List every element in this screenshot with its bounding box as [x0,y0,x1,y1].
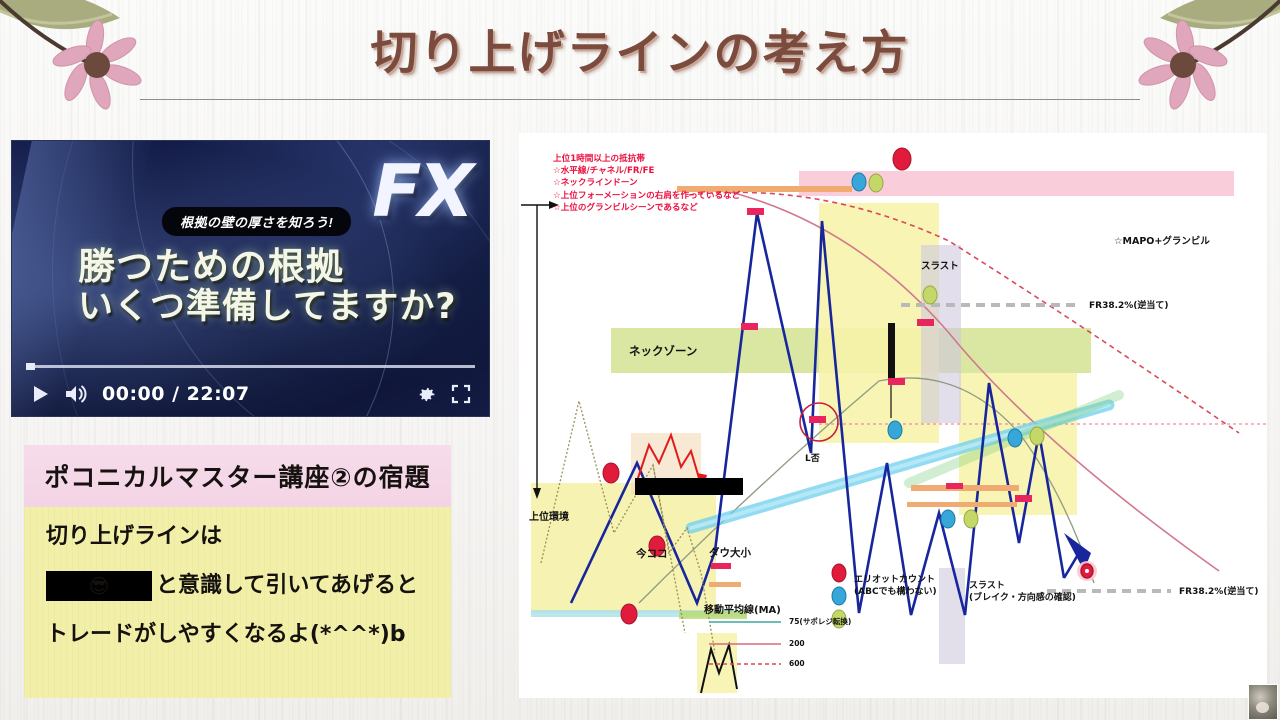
page-title-wrap: 切り上げラインの考え方 [0,14,1280,83]
homework-line-2: 😎 と意識して引いてあげると [46,571,445,601]
play-icon[interactable] [30,384,50,404]
video-headline: 勝つための根拠 いくつ準備してますか? [78,247,479,327]
video-headline-line1: 勝つための根拠 [78,245,344,288]
legend-ma200-label: 200 [789,639,805,648]
video-time: 00:00 / 22:07 [102,383,250,405]
legend-dow-small-swatch [711,563,731,569]
sunglasses-emoji-icon: 😎 [89,576,110,596]
black-candle-body [888,323,895,378]
homework-card: ポコニカルマスター講座②の宿題 切り上げラインは 😎 と意識して引いてあげると … [24,445,451,698]
thrust-label: スラスト [921,258,959,272]
higher-timeframe-label: 上位環境 [529,508,569,523]
legend-elliott-title: エリオットカウント (ABCでも構わない) [854,574,937,598]
fullscreen-icon[interactable] [451,384,471,404]
legend-dow-title: ダウ大小 [709,545,751,560]
homework-line-1: 切り上げラインは [46,525,445,549]
fr-upper-label: FR38.2%(逆当て) [1089,298,1169,311]
thrust-legend-label: スラスト (ブレイク・方向感の確認) [969,581,1076,604]
l-entry-label: L否 [805,451,820,464]
dow-large-bar-mid [911,485,1019,491]
homework-line-1-text: 切り上げラインは [46,525,222,549]
legend-dow-large-swatch [709,582,741,587]
video-controls: 00:00 / 22:07 [12,372,489,416]
volume-icon[interactable] [64,384,88,404]
zone-thrust-legend-grey [939,568,965,664]
video-player[interactable]: FX 根拠の壁の厚さを知ろう! 勝つための根拠 いくつ準備してますか? 00:0… [12,141,489,416]
dow-small-bar-6 [1015,495,1032,502]
webcam-face [1256,702,1269,713]
now-here-label: 今ココ [636,546,668,561]
homework-body: 切り上げラインは 😎 と意識して引いてあげると トレードがしやすくなるよ(*^^… [24,507,451,698]
neck-zone-label: ネックゾーン [629,343,697,359]
legend-elliott-red [832,564,846,582]
mapo-granville-label: ☆MAPO+グランビル [1114,233,1210,247]
homework-line-3: トレードがしやすくなるよ(*^^*)b [46,623,445,647]
dow-large-bar-bottom [907,502,1017,507]
redaction-box: 😎 [46,571,152,601]
homework-title: ポコニカルマスター講座②の宿題 [44,458,430,494]
fx-logo: FX [372,149,471,233]
dow-small-bar-4 [888,378,905,385]
legend-ma-title: 移動平均線(MA) [704,601,781,616]
gear-icon[interactable] [416,384,437,405]
dow-small-bar-2 [917,319,934,326]
legend-elliott-blue [832,587,846,605]
chart-redaction-bar [635,478,743,495]
dow-small-bar-7 [946,483,963,489]
page-title: 切り上げラインの考え方 [371,14,910,83]
webcam-thumbnail[interactable] [1248,684,1278,720]
video-progress-bar[interactable] [26,365,475,368]
homework-header: ポコニカルマスター講座②の宿題 [24,445,451,507]
legend-ma75-label: 75(サポレジ転換) [789,616,851,627]
dow-small-bar-1 [747,208,764,215]
title-divider [140,99,1140,100]
homework-line-2-text: と意識して引いてあげると [156,574,418,598]
dow-small-bar-5 [809,416,826,423]
chart-panel: 上位1時間以上の抵抗帯 ☆水平線/チャネル/FR/FE ☆ネックラインドーン ☆… [519,133,1267,698]
homework-line-3-text: トレードがしやすくなるよ(*^^*)b [46,623,406,647]
video-progress-knob[interactable] [26,363,35,370]
zone-higher-timeframe [531,483,716,613]
video-badge: 根拠の壁の厚さを知ろう! [162,207,351,236]
legend-ma600-label: 600 [789,659,805,668]
fr-lower-label: FR38.2%(逆当て) [1179,584,1259,597]
resistance-annotation-note: 上位1時間以上の抵抗帯 ☆水平線/チャネル/FR/FE ☆ネックラインドーン ☆… [553,153,740,214]
dow-small-bar-3 [741,323,758,330]
video-headline-line2: いくつ準備してますか? [78,289,479,327]
chart-graphic [519,133,1267,698]
